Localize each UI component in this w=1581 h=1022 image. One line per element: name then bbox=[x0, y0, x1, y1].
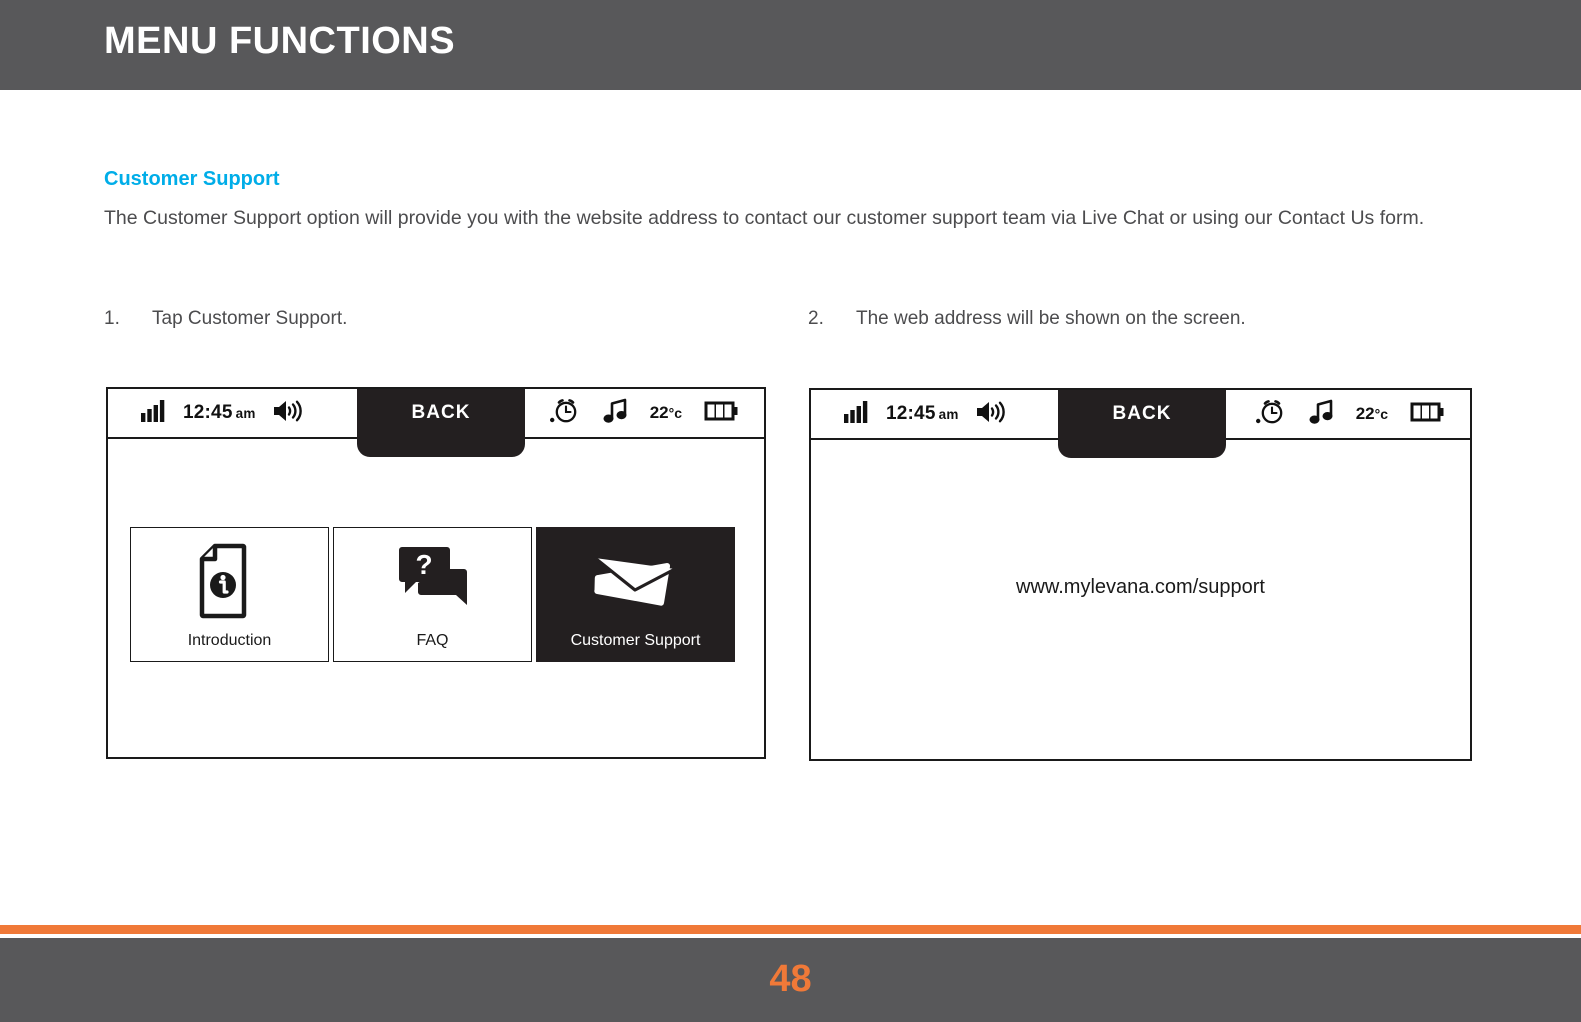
support-url-text: www.mylevana.com/support bbox=[811, 576, 1470, 599]
status-time-1: 12:45am bbox=[183, 402, 256, 424]
back-button-label-1: BACK bbox=[412, 402, 471, 424]
tile-introduction-label: Introduction bbox=[131, 632, 328, 650]
document-info-icon bbox=[131, 542, 328, 620]
section-paragraph: The Customer Support option will provide… bbox=[104, 205, 1434, 232]
page-title: MENU FUNCTIONS bbox=[104, 20, 455, 63]
alarm-clock-icon bbox=[1256, 398, 1286, 430]
tile-faq[interactable]: ? FAQ bbox=[333, 527, 532, 662]
battery-icon bbox=[1410, 402, 1444, 427]
back-button-label-2: BACK bbox=[1113, 403, 1172, 425]
music-note-icon bbox=[602, 398, 628, 429]
page-header: MENU FUNCTIONS bbox=[0, 0, 1581, 90]
status-time-2: 12:45am bbox=[886, 403, 959, 425]
menu-tile-row: Introduction ? FAQ bbox=[130, 527, 735, 662]
status-temperature-1: 22°c bbox=[650, 403, 682, 423]
battery-icon bbox=[704, 401, 738, 426]
speaker-icon bbox=[975, 400, 1007, 429]
tile-customer-support-label: Customer Support bbox=[537, 632, 734, 650]
step-2: 2. The web address will be shown on the … bbox=[808, 308, 1408, 330]
svg-text:?: ? bbox=[415, 549, 432, 580]
section-heading: Customer Support bbox=[104, 168, 280, 191]
speech-bubbles-question-icon: ? bbox=[334, 542, 531, 620]
page-number: 48 bbox=[0, 958, 1581, 1001]
screen-body-1: Introduction ? FAQ bbox=[108, 439, 764, 757]
status-temperature-2: 22°c bbox=[1356, 404, 1388, 424]
device-screen-1: 12:45am bbox=[106, 387, 766, 759]
signal-bars-icon bbox=[844, 401, 870, 428]
back-button-1[interactable]: BACK bbox=[357, 389, 525, 457]
step-2-text: The web address will be shown on the scr… bbox=[856, 308, 1246, 330]
speaker-icon bbox=[272, 399, 304, 428]
step-1: 1. Tap Customer Support. bbox=[104, 308, 704, 330]
music-note-icon bbox=[1308, 399, 1334, 430]
page-footer: 48 bbox=[0, 938, 1581, 1022]
envelope-icon bbox=[537, 542, 734, 620]
tile-customer-support[interactable]: Customer Support bbox=[536, 527, 735, 662]
footer-accent-rule bbox=[0, 925, 1581, 934]
tile-introduction[interactable]: Introduction bbox=[130, 527, 329, 662]
alarm-clock-icon bbox=[550, 397, 580, 429]
back-button-2[interactable]: BACK bbox=[1058, 390, 1226, 458]
page-content: Customer Support The Customer Support op… bbox=[0, 90, 1581, 925]
step-1-text: Tap Customer Support. bbox=[152, 308, 347, 330]
step-2-number: 2. bbox=[808, 308, 856, 330]
screen-body-2: www.mylevana.com/support bbox=[811, 440, 1470, 759]
step-1-number: 1. bbox=[104, 308, 152, 330]
device-screen-2: 12:45am bbox=[809, 388, 1472, 761]
tile-faq-label: FAQ bbox=[334, 632, 531, 650]
signal-bars-icon bbox=[141, 400, 167, 427]
